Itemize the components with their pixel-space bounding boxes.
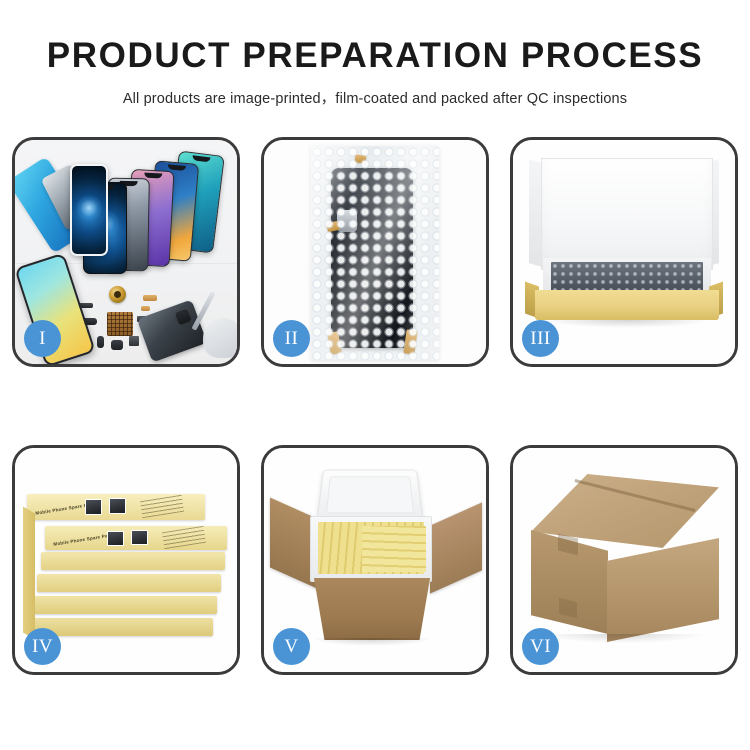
flex-cable-icon (141, 306, 150, 311)
process-step-3: III (510, 137, 738, 367)
box-lid-back (541, 158, 713, 270)
process-step-4: Mobile Phone Spare Parts Mobile Phone Sp… (12, 445, 240, 675)
box-slab (37, 574, 221, 592)
process-step-1: I (12, 137, 240, 367)
step-badge: VI (522, 628, 559, 665)
process-step-grid: I II (12, 137, 738, 675)
bubble-wrap-bag (311, 146, 439, 360)
step-badge: I (24, 320, 61, 357)
drop-shadow (543, 320, 711, 328)
screen-photo-icon (109, 498, 126, 514)
process-step-6: VI (510, 445, 738, 675)
camera-module-icon (111, 340, 123, 350)
box-slab (41, 552, 225, 570)
ic-chip-icon (129, 336, 139, 346)
step-badge: II (273, 320, 310, 357)
process-step-5: V (261, 445, 489, 675)
carton-front-panel (306, 578, 438, 640)
flex-cable-icon (143, 295, 157, 301)
page-subtitle: All products are image-printed，film-coat… (0, 87, 750, 108)
header: PRODUCT PREPARATION PROCESS All products… (0, 0, 750, 108)
speaker-coil-icon (109, 286, 126, 303)
step-badge: V (273, 628, 310, 665)
drop-shadow (310, 638, 434, 646)
front-glass-panel-icon (70, 164, 108, 256)
screen-photo-icon (85, 499, 102, 515)
printed-box-lower: Mobile Phone Spare Parts (45, 526, 227, 550)
notch-icon (144, 173, 162, 179)
product-preparation-infographic: PRODUCT PREPARATION PROCESS All products… (0, 0, 750, 750)
box-slab (33, 596, 217, 614)
step-badge: III (522, 320, 559, 357)
process-step-2: II (261, 137, 489, 367)
screen-photo-icon (131, 530, 148, 545)
step-badge: IV (24, 628, 61, 665)
foam-box-lid (316, 470, 423, 522)
page-title: PRODUCT PREPARATION PROCESS (0, 38, 750, 73)
stack-left-edge (23, 507, 35, 640)
printed-box-top: Mobile Phone Spare Parts (27, 494, 205, 520)
screen-photo-icon (107, 531, 124, 546)
drop-shadow (543, 634, 703, 643)
sim-tray-icon (97, 336, 104, 348)
bubble-wrapped-contents (551, 262, 703, 292)
plastic-sheen (311, 146, 439, 360)
spec-text-lines (140, 494, 184, 518)
box-stack: Mobile Phone Spare Parts Mobile Phone Sp… (23, 470, 235, 660)
hand-icon (203, 318, 237, 358)
notch-icon (168, 164, 186, 171)
box-front-panel (535, 290, 719, 320)
box-slab (29, 618, 213, 636)
yellow-boxes-right-group (362, 526, 426, 572)
chip-grid-icon (107, 312, 133, 336)
spec-text-lines (162, 526, 206, 549)
box-label-text: Mobile Phone Spare Parts (53, 532, 115, 547)
notch-icon (192, 155, 210, 162)
